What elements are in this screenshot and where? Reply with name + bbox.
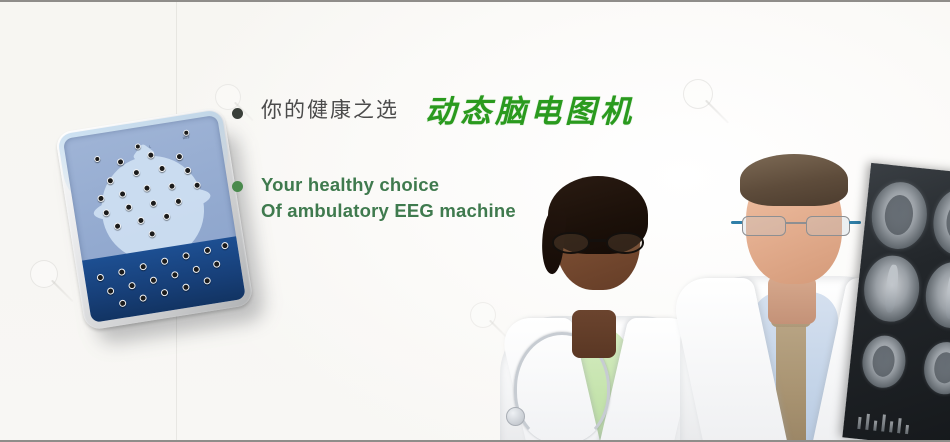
ct-film-markings: L [853,399,950,440]
electrode-socket [143,184,151,192]
ct-slice-grid [853,179,950,404]
electrode-socket [176,152,184,160]
english-tagline-line1: Your healthy choice [261,172,516,198]
electrode-socket [149,276,157,284]
film-calibration-bar [865,414,870,430]
electrode-socket [94,156,101,163]
ct-brain-slice [860,334,908,390]
bullet-dark-icon [232,108,243,119]
port-label-l: L [149,144,152,148]
device-electrode-panel: L REF [63,115,246,323]
film-calibration-bar [873,421,877,431]
magnifier-watermark [30,260,58,288]
electrode-socket [161,288,169,296]
electrode-socket [161,257,169,265]
film-calibration-bar [857,417,861,429]
ct-brain-slice [861,253,922,325]
eeg-product-banner: L REF [0,0,950,442]
electrode-socket [182,252,190,260]
ct-brain-slice [930,186,950,258]
electrode-socket [107,287,115,295]
chinese-subtitle: 你的健康之选 [261,94,399,124]
eyeglass-lens-right [606,232,644,254]
device-case: L REF [55,107,254,331]
doctors-photo: L [490,2,950,442]
electrode-socket [221,242,229,250]
electrode-socket [213,260,221,268]
electrode-socket [203,277,211,285]
eyeglass-bridge [590,239,606,242]
electrode-socket [128,282,136,290]
eyeglass-arm-right [849,221,861,224]
male-doctor-hair [740,154,848,206]
port-label-ref: REF [182,135,190,140]
english-tagline: Your healthy choice Of ambulatory EEG ma… [261,172,516,225]
bullet-green-icon [232,181,243,192]
eyeglass-lens-left [552,232,590,254]
electrode-socket [168,182,176,190]
female-doctor [500,180,700,442]
ct-brain-slice [922,259,950,331]
electrode-socket [118,268,126,276]
electrode-socket [182,283,190,291]
electrode-socket [139,263,147,271]
film-calibration-bar [881,414,886,431]
eyeglass-bridge [786,222,806,224]
eyeglass-lens-left [742,216,786,236]
electrode-socket [118,300,126,308]
english-tagline-line2: Of ambulatory EEG machine [261,198,516,224]
stethoscope-bell-icon [506,407,525,426]
film-calibration-bar [897,418,902,433]
eeg-device-image: L REF [60,110,260,335]
ct-brain-slice [869,179,930,251]
electrode-socket [118,190,126,198]
eyeglasses-icon [742,216,850,236]
eyeglasses-icon [552,232,644,254]
electrode-socket [97,274,105,282]
electrode-socket [171,271,179,279]
electrode-socket [140,294,148,302]
electrode-socket [203,247,211,255]
film-calibration-bar [889,421,893,432]
electrode-socket [192,265,200,273]
ct-brain-slice [921,340,950,396]
film-calibration-bar [905,425,909,434]
female-doctor-neck [572,310,616,358]
eyeglass-lens-right [806,216,850,236]
device-connector-band [82,236,246,323]
